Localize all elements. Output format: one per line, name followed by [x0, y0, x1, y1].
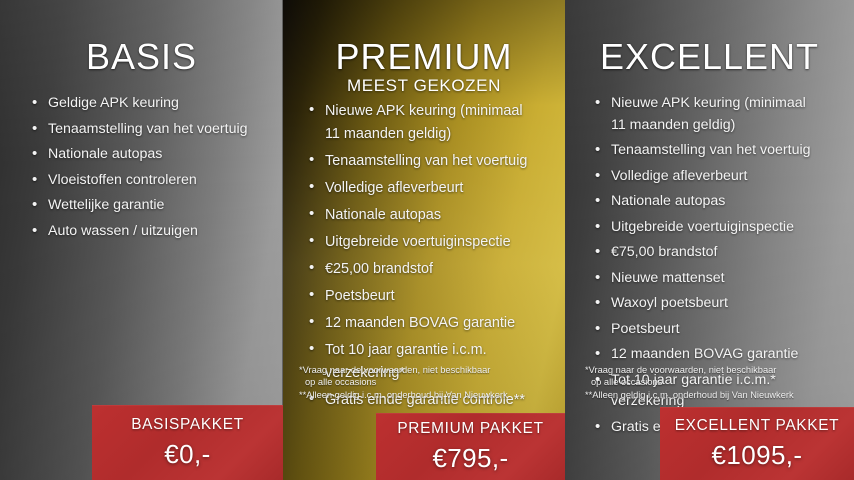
price-banner-basis[interactable]: BASISPAKKET €0,-: [92, 405, 283, 480]
footnote-line: **Alleen geldig i.c.m. onderhoud bij Van…: [299, 389, 508, 401]
list-item: Nieuwe mattenset: [595, 268, 842, 289]
footnote-line: **Alleen geldig i.c.m. onderhoud bij Van…: [585, 389, 794, 401]
list-item: Tenaamstelling van het voertuig: [595, 140, 842, 161]
footnote-line: *Vraag naar de voorwaarden, niet beschik…: [585, 364, 794, 376]
list-item: Poetsbeurt: [309, 285, 553, 307]
package-column-premium: PREMIUM MEEST GEKOZEN Nieuwe APK keuring…: [283, 0, 565, 480]
footnotes-premium: *Vraag naar de voorwaarden, niet beschik…: [299, 364, 508, 401]
list-item: Nationale autopas: [309, 204, 553, 226]
package-heading-premium: PREMIUM: [283, 36, 565, 78]
list-item: €25,00 brandstof: [309, 258, 553, 280]
list-item: Nationale autopas: [595, 191, 842, 212]
pricing-comparison-board: BASIS Geldige APK keuring Tenaamstelling…: [0, 0, 854, 480]
list-item: Tenaamstelling van het voertuig: [32, 119, 265, 140]
price-value: €1095,-: [660, 440, 854, 471]
price-banner-premium[interactable]: PREMIUM PAKKET €795,-: [376, 413, 565, 480]
list-item: Nationale autopas: [32, 144, 265, 165]
list-item: Auto wassen / uitzuigen: [32, 221, 265, 242]
package-name-label: EXCELLENT PAKKET: [660, 417, 854, 435]
list-item: Nieuwe APK keuring (minimaal: [595, 93, 842, 114]
package-name-label: PREMIUM PAKKET: [376, 420, 565, 438]
footnote-line: op alle occasions: [299, 376, 508, 388]
list-item: 12 maanden BOVAG garantie: [595, 344, 842, 365]
list-item-continuation: 11 maanden geldig): [595, 115, 842, 136]
price-banner-excellent[interactable]: EXCELLENT PAKKET €1095,-: [660, 407, 854, 480]
list-item: Volledige afleverbeurt: [309, 177, 553, 199]
list-item: Nieuwe APK keuring (minimaal: [309, 100, 553, 122]
list-item: Poetsbeurt: [595, 319, 842, 340]
list-item: Wettelijke garantie: [32, 195, 265, 216]
list-item: Waxoyl poetsbeurt: [595, 293, 842, 314]
footnote-line: op alle occasions: [585, 376, 794, 388]
package-heading-excellent: EXCELLENT: [565, 36, 854, 78]
list-item: Vloeistoffen controleren: [32, 170, 265, 191]
price-value: €795,-: [376, 443, 565, 474]
list-item: Uitgebreide voertuiginspectie: [595, 217, 842, 238]
list-item: Volledige afleverbeurt: [595, 166, 842, 187]
feature-list-basis: Geldige APK keuring Tenaamstelling van h…: [32, 93, 265, 246]
package-name-label: BASISPAKKET: [92, 416, 283, 434]
package-subheading-premium: MEEST GEKOZEN: [283, 76, 565, 96]
list-item: Tot 10 jaar garantie i.c.m.: [309, 339, 553, 361]
footnote-line: *Vraag naar de voorwaarden, niet beschik…: [299, 364, 508, 376]
list-item: Geldige APK keuring: [32, 93, 265, 114]
package-heading-basis: BASIS: [0, 36, 283, 78]
list-item: Uitgebreide voertuiginspectie: [309, 231, 553, 253]
list-item: 12 maanden BOVAG garantie: [309, 312, 553, 334]
footnotes-excellent: *Vraag naar de voorwaarden, niet beschik…: [585, 364, 794, 401]
list-item: Tenaamstelling van het voertuig: [309, 150, 553, 172]
list-item-continuation: 11 maanden geldig): [309, 123, 553, 145]
list-item: €75,00 brandstof: [595, 242, 842, 263]
price-value: €0,-: [92, 439, 283, 470]
